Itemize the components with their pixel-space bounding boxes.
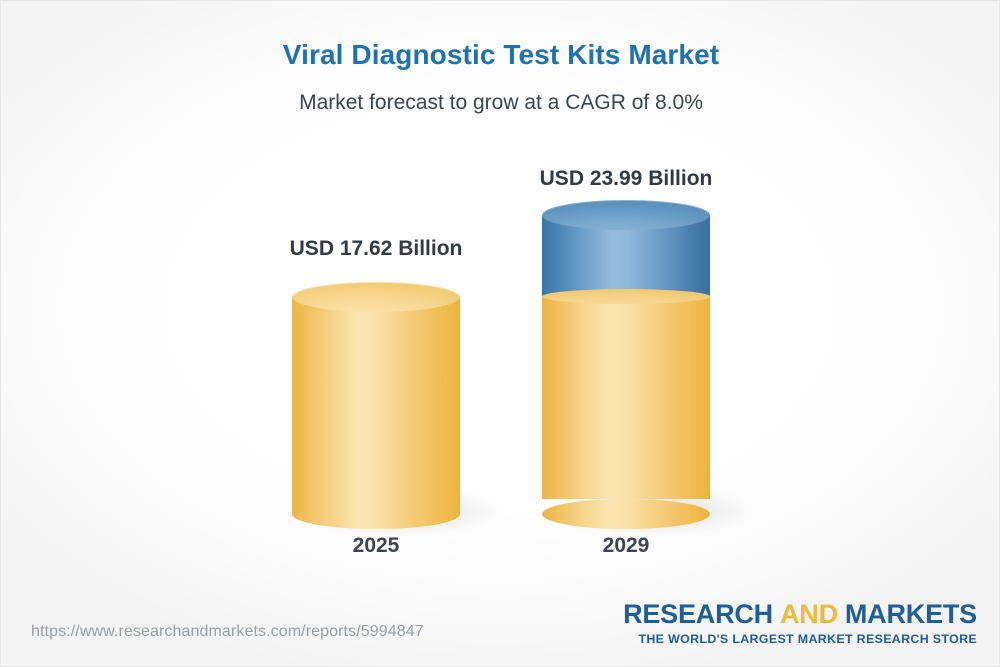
bar-cylinder-2025 — [292, 282, 460, 514]
bar-base-ellipse-2025 — [292, 499, 460, 529]
chart-canvas: Viral Diagnostic Test Kits Market Market… — [0, 0, 1000, 667]
bar-value-label-2025: USD 17.62 Billion — [216, 237, 536, 261]
plot-area: USD 17.62 Billion 2025 USD 23.99 Billion… — [1, 1, 1000, 667]
bar-segment-yellow-2029 — [542, 296, 710, 499]
source-url[interactable]: https://www.researchandmarkets.com/repor… — [31, 623, 424, 641]
logo-markets-text: MARKETS — [845, 599, 977, 629]
research-and-markets-logo[interactable]: RESEARCHANDMARKETS THE WORLD'S LARGEST M… — [623, 601, 977, 645]
logo-wordmark: RESEARCHANDMARKETS — [623, 601, 977, 628]
logo-and-text: AND — [780, 599, 838, 629]
bar-value-label-2029: USD 23.99 Billion — [466, 167, 786, 191]
bar-category-label-2029: 2029 — [466, 534, 786, 558]
logo-research-text: RESEARCH — [623, 599, 773, 629]
bar-cylinder-2029 — [542, 200, 710, 514]
bar-segment-seam-2029 — [542, 289, 710, 304]
bar-top-ellipse-2025 — [292, 282, 460, 312]
bar-base-ellipse-2029 — [542, 499, 710, 529]
bar-segment-yellow-2025 — [292, 297, 460, 514]
logo-tagline: THE WORLD'S LARGEST MARKET RESEARCH STOR… — [623, 633, 977, 645]
bar-top-ellipse-2029 — [542, 200, 710, 230]
